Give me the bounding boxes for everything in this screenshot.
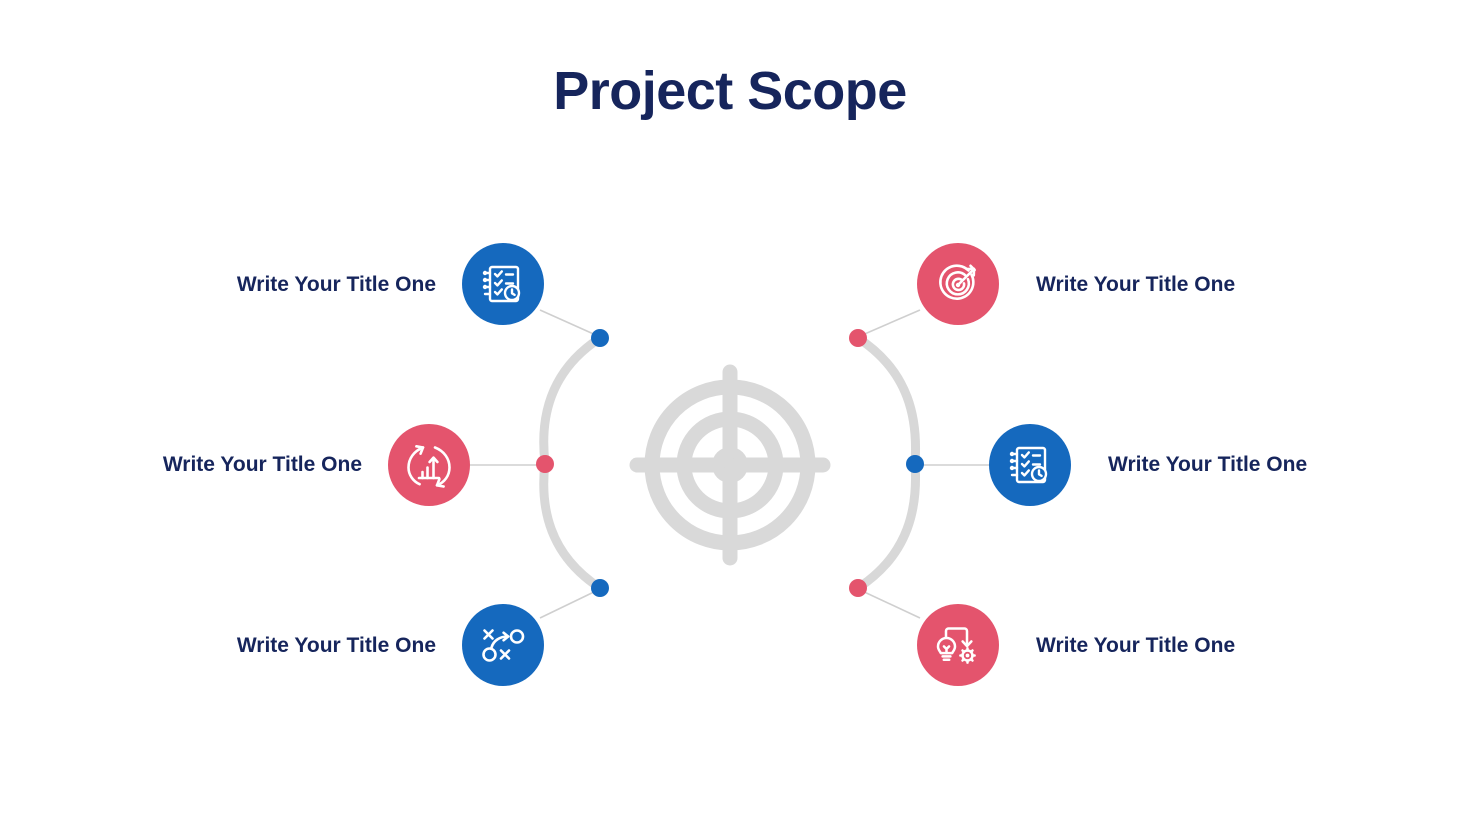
node-top-left-label: Write Your Title One bbox=[0, 272, 436, 297]
node-middle-right-circle[interactable] bbox=[989, 424, 1071, 506]
node-bottom-left-label: Write Your Title One bbox=[0, 633, 436, 658]
arc-dot-middle-left[interactable] bbox=[536, 455, 554, 473]
connector-line-top-right bbox=[860, 310, 920, 336]
strategy-playbook-icon bbox=[479, 621, 527, 669]
arc-dot-top-left[interactable] bbox=[591, 329, 609, 347]
node-top-left-circle[interactable] bbox=[462, 243, 544, 325]
growth-cycle-chart-icon bbox=[405, 441, 453, 489]
node-top-right-circle[interactable] bbox=[917, 243, 999, 325]
idea-to-gear-icon bbox=[933, 620, 983, 670]
node-bottom-right-circle[interactable] bbox=[917, 604, 999, 686]
node-middle-left-label: Write Your Title One bbox=[0, 452, 362, 477]
arc-dot-bottom-left[interactable] bbox=[591, 579, 609, 597]
node-middle-right-label: Write Your Title One bbox=[1108, 452, 1458, 477]
node-top-right-label: Write Your Title One bbox=[1036, 272, 1456, 297]
node-bottom-left-circle[interactable] bbox=[462, 604, 544, 686]
checklist-clock-icon bbox=[479, 260, 527, 308]
connector-line-bottom-right bbox=[860, 590, 920, 618]
diagram-svg bbox=[0, 0, 1460, 821]
node-bottom-right-label: Write Your Title One bbox=[1036, 633, 1456, 658]
arc-dot-bottom-right[interactable] bbox=[849, 579, 867, 597]
connector-line-top-left bbox=[540, 310, 598, 336]
crosshair-target-icon bbox=[637, 372, 823, 558]
target-arrow-icon bbox=[934, 260, 982, 308]
slide-canvas: Project Scope bbox=[0, 0, 1460, 821]
checklist-clock-icon bbox=[1006, 441, 1054, 489]
node-middle-left-circle[interactable] bbox=[388, 424, 470, 506]
connector-line-bottom-left bbox=[540, 590, 598, 618]
arc-dot-middle-right[interactable] bbox=[906, 455, 924, 473]
arc-dot-top-right[interactable] bbox=[849, 329, 867, 347]
